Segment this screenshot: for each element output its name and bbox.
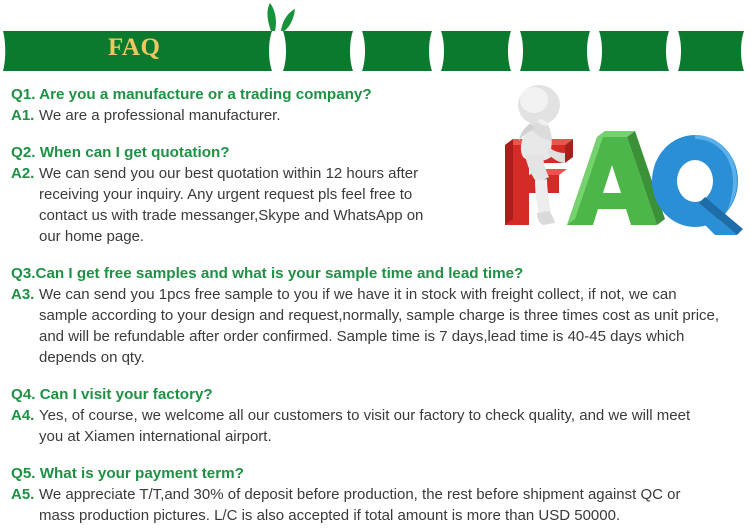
faq-answer-line: depends on qty.: [39, 347, 746, 368]
faq-answer-row: A3. We can send you 1pcs free sample to …: [11, 284, 746, 368]
bamboo-segment: [599, 31, 669, 71]
page-banner: FAQ: [0, 0, 750, 80]
faq-answer-label: A3.: [11, 284, 39, 305]
banner-title: FAQ: [108, 35, 160, 60]
faq-answer-label: A4.: [11, 405, 39, 426]
faq-question: Q5. What is your payment term?: [11, 463, 746, 484]
faq-answer-line: mass production pictures. L/C is also ac…: [39, 505, 746, 526]
faq-question: Q2. When can I get quotation?: [11, 142, 746, 163]
faq-item: Q3.Can I get free samples and what is yo…: [0, 263, 750, 368]
spacer: [0, 447, 750, 463]
faq-answer-body: We are a professional manufacturer.: [39, 105, 746, 126]
bamboo-segment: [362, 31, 432, 71]
bamboo-segment: [678, 31, 744, 71]
faq-answer-row: A5. We appreciate T/T,and 30% of deposit…: [11, 484, 746, 526]
faq-answer-line: sample according to your design and requ…: [39, 305, 746, 326]
faq-answer-line: and will be refundable after order confi…: [39, 326, 746, 347]
spacer: [0, 368, 750, 384]
faq-question: Q3.Can I get free samples and what is yo…: [11, 263, 746, 284]
faq-question: Q4. Can I visit your factory?: [11, 384, 746, 405]
faq-answer-label: A1.: [11, 105, 39, 126]
faq-item: Q2. When can I get quotation? A2. We can…: [0, 142, 750, 247]
faq-answer-line: receiving your inquiry. Any urgent reque…: [39, 184, 746, 205]
faq-answer-label: A5.: [11, 484, 39, 505]
faq-answer-body: We can send you 1pcs free sample to you …: [39, 284, 746, 368]
faq-answer-label: A2.: [11, 163, 39, 184]
faq-answer-line: We can send you our best quotation withi…: [39, 163, 746, 184]
faq-list: Q1. Are you a manufacture or a trading c…: [0, 84, 750, 526]
faq-answer-body: We can send you our best quotation withi…: [39, 163, 746, 247]
spacer: [0, 247, 750, 263]
faq-answer-row: A4. Yes, of course, we welcome all our c…: [11, 405, 746, 447]
faq-question: Q1. Are you a manufacture or a trading c…: [11, 84, 746, 105]
faq-answer-body: Yes, of course, we welcome all our custo…: [39, 405, 746, 447]
faq-answer-line: our home page.: [39, 226, 746, 247]
bamboo-segment: [441, 31, 511, 71]
faq-answer-line: We appreciate T/T,and 30% of deposit bef…: [39, 484, 746, 505]
faq-answer-line: you at Xiamen international airport.: [39, 426, 746, 447]
faq-answer-line: contact us with trade messanger,Skype an…: [39, 205, 746, 226]
faq-answer-body: We appreciate T/T,and 30% of deposit bef…: [39, 484, 746, 526]
faq-answer-line: We can send you 1pcs free sample to you …: [39, 284, 746, 305]
faq-item: Q4. Can I visit your factory? A4. Yes, o…: [0, 384, 750, 447]
bamboo-leaf-icon: [267, 3, 295, 31]
bamboo-segment: [520, 31, 590, 71]
faq-answer-line: We are a professional manufacturer.: [39, 105, 746, 126]
faq-answer-row: A2. We can send you our best quotation w…: [11, 163, 746, 247]
faq-item: Q1. Are you a manufacture or a trading c…: [0, 84, 750, 126]
spacer: [0, 126, 750, 142]
faq-item: Q5. What is your payment term? A5. We ap…: [0, 463, 750, 526]
faq-answer-row: A1. We are a professional manufacturer.: [11, 105, 746, 126]
bamboo-segment: [283, 31, 353, 71]
faq-answer-line: Yes, of course, we welcome all our custo…: [39, 405, 746, 426]
